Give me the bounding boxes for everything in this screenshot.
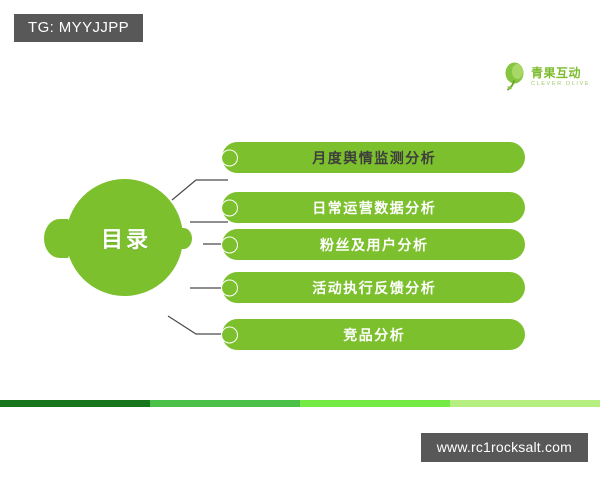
bottom-accent-bar [0,400,600,407]
hub-label: 目录 [98,222,151,254]
bullet-icon-3 [221,236,238,253]
brand-logo: 青果互动 CLEVER OLIVE [502,62,590,92]
brand-wordmark: 青果互动 CLEVER OLIVE [531,67,590,88]
bullet-icon-2 [221,199,238,216]
brand-name-en: CLEVER OLIVE [531,82,590,88]
toc-item-1-label: 月度舆情监测分析 [311,148,437,168]
url-watermark: www.rc1rocksalt.com [421,433,588,462]
slide-canvas: TG: MYYJJPP 青果互动 CLEVER OLIVE [0,0,600,480]
olive-leaf-icon [502,62,528,92]
hub-circle: 目录 [66,179,183,296]
toc-item-4-label: 活动执行反馈分析 [311,278,437,298]
toc-item-5-label: 竞品分析 [342,325,406,345]
bullet-icon-1 [221,149,238,166]
toc-item-2-label: 日常运营数据分析 [311,198,437,218]
accent-segment-4 [450,400,600,407]
accent-segment-1 [0,400,150,407]
toc-item-4[interactable]: 活动执行反馈分析 [222,272,525,303]
toc-item-3[interactable]: 粉丝及用户分析 [222,229,525,260]
bullet-icon-5 [221,326,238,343]
toc-item-1[interactable]: 月度舆情监测分析 [222,142,525,173]
toc-item-5[interactable]: 竞品分析 [222,319,525,350]
bullet-icon-4 [221,279,238,296]
toc-item-3-label: 粉丝及用户分析 [319,235,429,255]
brand-name-cn: 青果互动 [531,67,590,79]
accent-segment-3 [300,400,450,407]
accent-segment-2 [150,400,300,407]
toc-item-2[interactable]: 日常运营数据分析 [222,192,525,223]
tag-badge: TG: MYYJJPP [14,14,143,42]
